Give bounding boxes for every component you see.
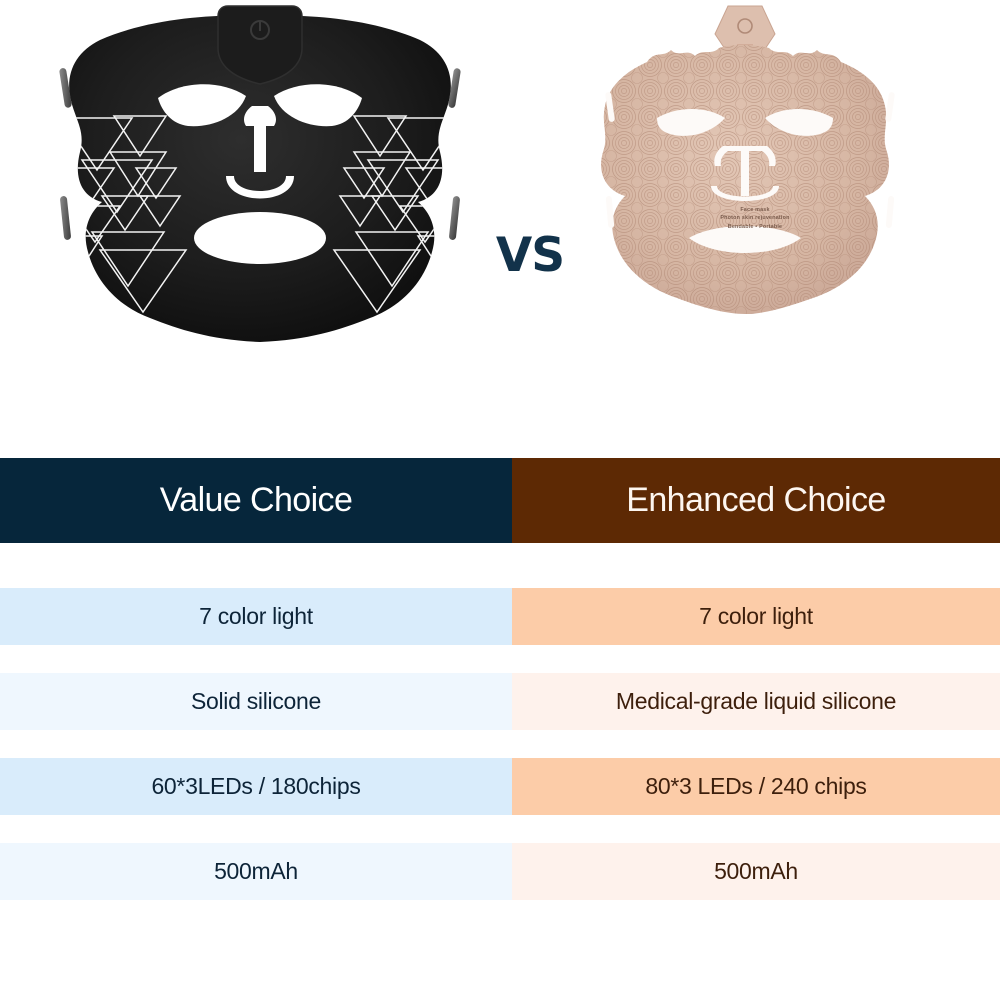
black-mask-image	[40, 0, 480, 458]
header-enhanced-choice: Enhanced Choice	[512, 458, 1000, 543]
vs-label: VS	[480, 232, 580, 279]
cell-left-battery: 500mAh	[0, 843, 512, 900]
cell-right-leds: 80*3 LEDs / 240 chips	[512, 758, 1000, 815]
cell-right-material: Medical-grade liquid silicone	[512, 673, 1000, 730]
product-comparison-page: VS	[0, 0, 1000, 1000]
strap-slot-bottom-left	[606, 196, 615, 228]
header-spacer	[0, 543, 1000, 588]
table-row: 60*3LEDs / 180chips 80*3 LEDs / 240 chip…	[0, 758, 1000, 815]
table-row: Solid silicone Medical-grade liquid sili…	[0, 673, 1000, 730]
strap-slot-top-right	[885, 92, 895, 123]
control-module	[218, 6, 302, 84]
cell-left-leds: 60*3LEDs / 180chips	[0, 758, 512, 815]
table-row: 7 color light 7 color light	[0, 588, 1000, 645]
cell-right-battery: 500mAh	[512, 843, 1000, 900]
table-row: 500mAh 500mAh	[0, 843, 1000, 900]
table-header-row: Value Choice Enhanced Choice	[0, 458, 1000, 543]
header-value-choice: Value Choice	[0, 458, 512, 543]
print-line-1: Face mask	[660, 206, 850, 214]
print-line-2: Photon skin rejuvenation	[660, 214, 850, 222]
row-spacer	[0, 815, 1000, 843]
cell-right-light: 7 color light	[512, 588, 1000, 645]
mouth-opening	[194, 212, 326, 264]
mask-printed-text: Face mask Photon skin rejuvenation Benda…	[660, 206, 850, 231]
print-line-3: Bendable • Portable	[660, 223, 850, 231]
strap-slot-bottom-right	[886, 196, 895, 228]
hero-product-images: VS	[0, 0, 1000, 458]
row-spacer	[0, 730, 1000, 758]
strap-slot-bottom-right	[449, 196, 461, 240]
strap-slot-bottom-left	[60, 196, 72, 240]
row-spacer	[0, 645, 1000, 673]
cell-left-material: Solid silicone	[0, 673, 512, 730]
cell-left-light: 7 color light	[0, 588, 512, 645]
black-mask-illustration	[40, 0, 480, 458]
comparison-table: Value Choice Enhanced Choice 7 color lig…	[0, 458, 1000, 900]
